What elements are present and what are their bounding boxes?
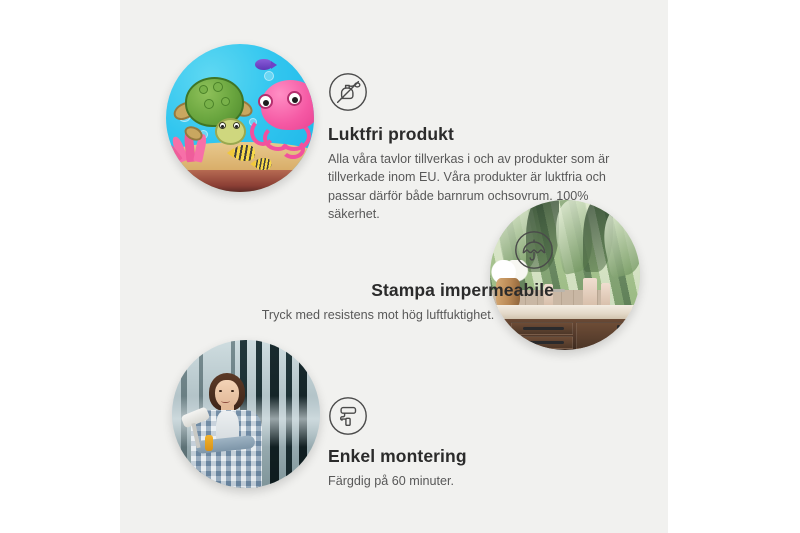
feature-body: Färgdig på 60 minuter.: [328, 472, 628, 491]
content-panel: Luktfri produkt Alla våra tavlor tillver…: [120, 0, 668, 533]
feature-title: Stampa impermeabile: [202, 280, 554, 302]
feature-title: Enkel montering: [328, 446, 628, 468]
no-perfume-spray-icon: [328, 72, 626, 112]
feature-waterproof-print: Stampa impermeabile Tryck med resistens …: [202, 230, 554, 324]
woman-paint-roller-forest-photo: [172, 340, 320, 488]
feature-infographic: Luktfri produkt Alla våra tavlor tillver…: [0, 0, 800, 533]
feature-easy-assembly: Enkel montering Färgdig på 60 minuter.: [328, 396, 628, 490]
feature-body: Tryck med resistens mot hög luftfuktighe…: [202, 306, 554, 325]
feature-title: Luktfri produkt: [328, 124, 626, 146]
paint-roller-icon: [328, 396, 628, 436]
underwater-cartoon-photo: [166, 44, 314, 192]
umbrella-icon: [514, 230, 554, 270]
